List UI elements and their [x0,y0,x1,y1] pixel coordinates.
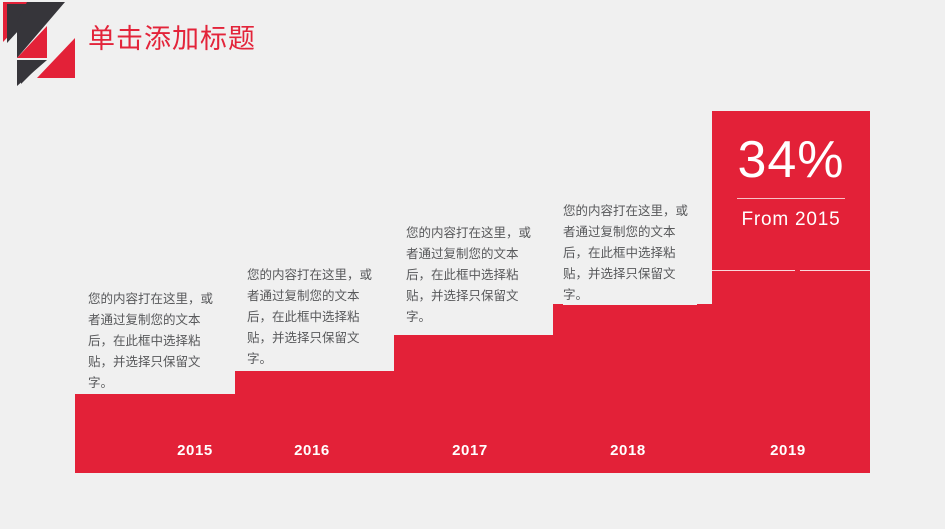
highlight-rule [737,198,845,199]
slide-header: 单击添加标题 [0,0,945,95]
year-label-2015: 2015 [155,442,235,459]
page-title: 单击添加标题 [88,17,256,56]
year-label-2017: 2017 [430,442,510,459]
callout-2016: 您的内容打在这里，或者通过复制您的文本后，在此框中选择粘贴，并选择只保留文字。 [247,264,377,369]
step-divider-right [800,270,870,271]
callout-2015: 您的内容打在这里，或者通过复制您的文本后，在此框中选择粘贴，并选择只保留文字。 [88,288,218,393]
callout-2018: 您的内容打在这里，或者通过复制您的文本后，在此框中选择粘贴，并选择只保留文字。 [563,200,697,305]
brand-logo-icon [3,2,81,86]
highlight-subtitle: From 2015 [712,208,870,232]
highlight-panel: 34% From 2015 [712,130,870,232]
year-label-2018: 2018 [588,442,668,459]
highlight-value: 34% [712,130,870,190]
step-bar-2015 [75,394,235,473]
callout-2017: 您的内容打在这里，或者通过复制您的文本后，在此框中选择粘贴，并选择只保留文字。 [406,222,536,327]
step-divider-left [712,270,795,271]
year-label-2019: 2019 [748,442,828,459]
year-label-2016: 2016 [272,442,352,459]
